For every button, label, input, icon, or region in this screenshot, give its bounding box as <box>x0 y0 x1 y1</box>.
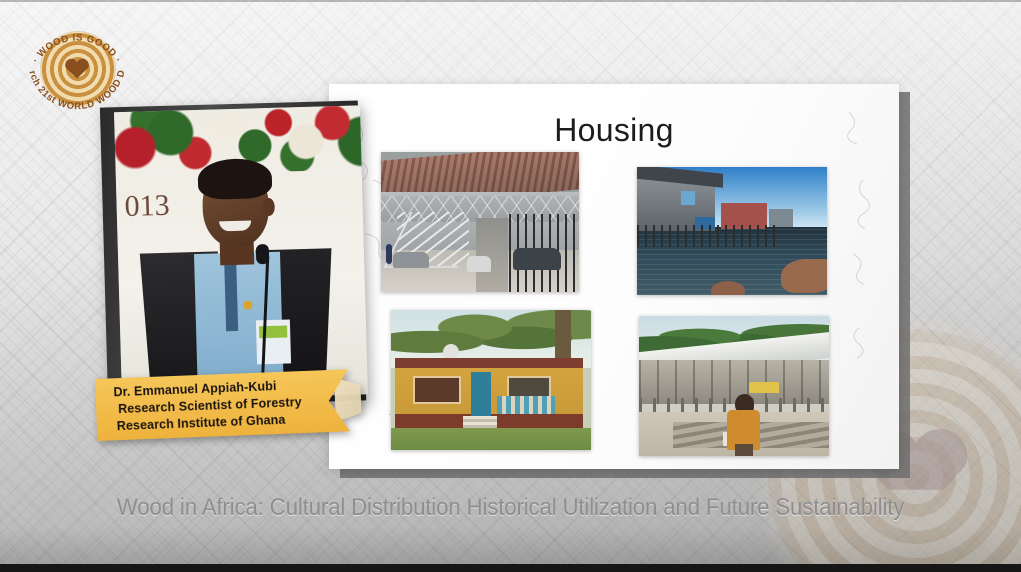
photo-lawn-shape <box>391 428 591 450</box>
photo-car-shape <box>467 256 491 272</box>
photo-arm-shape <box>781 259 827 293</box>
photo-boy-legs-shape <box>735 444 753 456</box>
photo-car-shape <box>393 252 429 268</box>
photo-car-shape <box>513 248 561 270</box>
logo-top-text: · WOOD IS GOOD · <box>30 32 123 65</box>
speaker-name-caption: Dr. Emmanuel Appiah-Kubi Research Scient… <box>95 369 350 441</box>
photo-warehouse-building[interactable] <box>381 152 579 292</box>
photo-long-stilt-building[interactable] <box>639 316 829 456</box>
presentation-video-frame: · WOOD IS GOOD · March 21st WORLD WOOD D… <box>0 0 1021 572</box>
photo-person-shape <box>386 244 392 264</box>
speaker-hair <box>197 158 272 200</box>
speaker-tie <box>224 261 238 331</box>
slide-title: Housing <box>329 112 899 149</box>
microphone-head-icon <box>256 244 270 264</box>
photo-stilt-houses-water[interactable] <box>637 167 827 295</box>
photo-hand-shape <box>711 281 745 295</box>
photo-railing-shape <box>497 396 555 414</box>
photo-sign-shape <box>749 382 779 393</box>
video-frame-border: 013 orld W mposiu Afri <box>100 100 366 407</box>
photo-door-shape <box>471 372 491 416</box>
top-letterbox-bar <box>0 0 1021 2</box>
video-content: 013 orld W mposiu Afri <box>114 105 368 401</box>
photo-yellow-bungalow[interactable] <box>391 310 591 450</box>
caption-body: Dr. Emmanuel Appiah-Kubi Research Scient… <box>95 369 350 441</box>
photo-window-shape <box>681 191 695 205</box>
speaker-ear <box>262 198 274 216</box>
speaker-video-panel[interactable]: 013 orld W mposiu Afri <box>100 100 366 407</box>
photo-stilts-shape <box>637 225 777 247</box>
presentation-headline: Wood in Africa: Cultural Distribution Hi… <box>36 494 986 522</box>
speaker-figure <box>156 163 323 401</box>
photo-window-shape <box>413 376 461 404</box>
bottom-letterbox-bar <box>0 564 1021 572</box>
photo-pillar-shape <box>476 218 508 292</box>
slide-panel[interactable]: Housing <box>329 84 899 469</box>
